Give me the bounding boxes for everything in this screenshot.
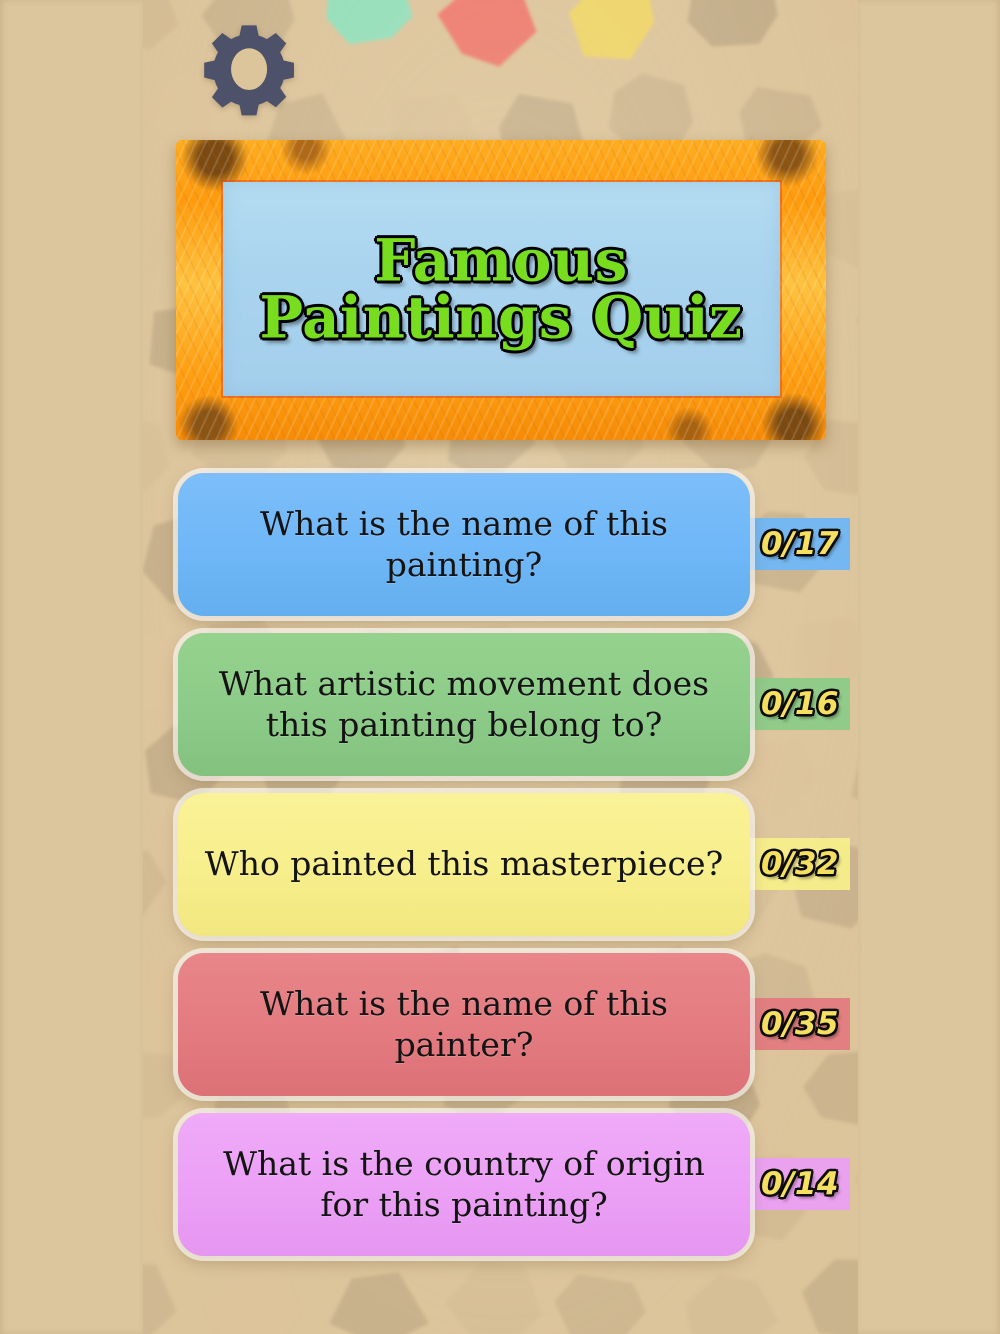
question-button-painter-name[interactable]: What is the name of this painter? [178,953,750,1096]
question-button-country-of-origin[interactable]: What is the country of origin for this p… [178,1113,750,1256]
mosaic-tile [201,1262,308,1334]
page-border-left [0,0,143,1334]
mosaic-tile [676,1270,780,1334]
mosaic-tile [549,1267,655,1334]
quiz-home-screen: Famous Paintings Quiz 0/17What is the na… [0,0,1000,1334]
title-frame: Famous Paintings Quiz [176,140,826,440]
score-badge: 0/17 [750,518,850,570]
mosaic-tile [316,0,416,53]
question-button-painting-name[interactable]: What is the name of this painting? [178,473,750,616]
score-badge: 0/32 [750,838,850,890]
score-badge-value: 0/35 [761,1006,839,1042]
page-border-right [858,0,1000,1334]
question-label: What is the name of this painting? [204,504,724,586]
mosaic-tile [560,0,664,69]
mosaic-tile [143,0,180,56]
score-badge-value: 0/32 [761,846,839,882]
mosaic-tile [797,1042,858,1134]
score-badge-value: 0/14 [761,1166,839,1202]
title-line-2: Paintings Quiz [176,288,826,349]
question-label: What is the name of this painter? [204,984,724,1066]
mosaic-tile [676,0,781,54]
question-button-artistic-movement[interactable]: What artistic movement does this paintin… [178,633,750,776]
mosaic-tile [435,0,539,70]
question-label: What is the country of origin for this p… [204,1144,724,1226]
mosaic-tile [849,521,858,618]
settings-button[interactable] [203,22,298,122]
mosaic-tile [843,730,858,825]
question-button-painter-of-masterpiece[interactable]: Who painted this masterpiece? [178,793,750,936]
page-title: Famous Paintings Quiz [176,231,826,350]
mosaic-tile [797,1255,858,1334]
mosaic-tile [143,409,174,496]
mosaic-tile [143,1258,181,1334]
mosaic-tile [789,0,858,57]
question-label: Who painted this masterpiece? [204,844,724,885]
mosaic-tile [143,837,167,923]
question-label: What artistic movement does this paintin… [204,664,724,746]
score-badge: 0/14 [750,1158,850,1210]
score-badge-value: 0/17 [761,526,839,562]
mosaic-tile [326,1268,432,1334]
gear-icon [203,22,298,122]
score-badge-value: 0/16 [761,686,839,722]
score-badge: 0/35 [750,998,850,1050]
score-badge: 0/16 [750,678,850,730]
mosaic-tile [445,1259,550,1334]
